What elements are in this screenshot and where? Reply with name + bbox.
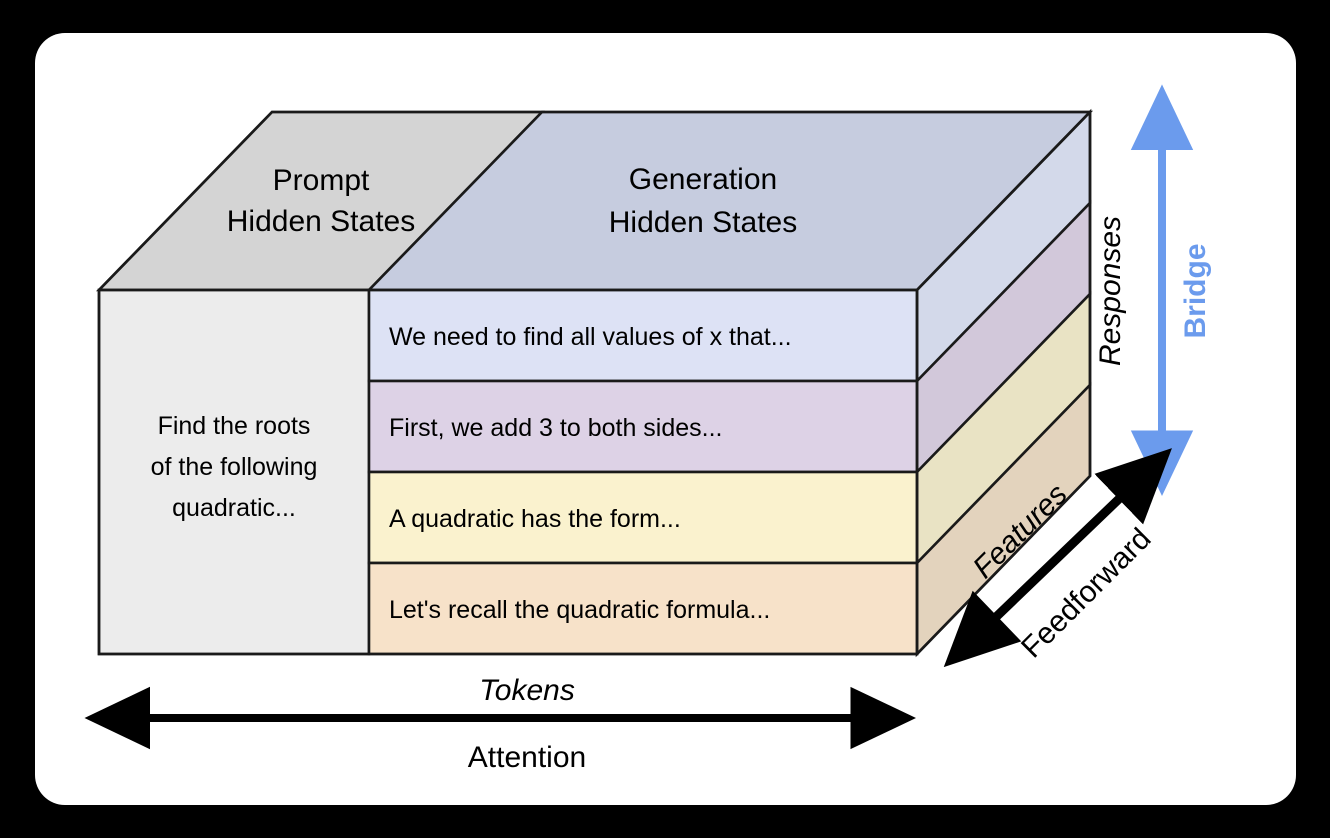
generation-row-label-1: We need to find all values of x that... bbox=[389, 323, 792, 351]
prompt-cell-line-1: Find the roots bbox=[158, 412, 311, 440]
prompt-top-face-line1: Prompt bbox=[273, 164, 370, 197]
prompt-cell-line-3: quadratic... bbox=[172, 494, 296, 522]
prompt-cell: Find the roots of the following quadrati… bbox=[99, 290, 369, 654]
generation-top-face-line2: Hidden States bbox=[609, 206, 797, 239]
architecture-diagram: Prompt Hidden States Generation Hidden S… bbox=[0, 0, 1330, 838]
prompt-top-face-line2: Hidden States bbox=[227, 205, 415, 238]
feedforward-axis-label: Feedforward bbox=[1015, 522, 1157, 664]
generation-row-label-3: A quadratic has the form... bbox=[389, 505, 681, 533]
tokens-axis-label: Tokens bbox=[479, 674, 575, 707]
generation-row-label-4: Let's recall the quadratic formula... bbox=[389, 596, 770, 624]
vertical-axis: Responses Bridge bbox=[1094, 118, 1212, 464]
generation-row-label-2: First, we add 3 to both sides... bbox=[389, 414, 723, 442]
horizontal-axis: Tokens Attention bbox=[118, 674, 884, 774]
generation-rows-group: We need to find all values of x that... … bbox=[369, 290, 917, 654]
generation-top-face-line1: Generation bbox=[629, 163, 777, 196]
responses-axis-label: Responses bbox=[1094, 216, 1127, 366]
attention-axis-label: Attention bbox=[468, 741, 586, 774]
screenshot-root: Prompt Hidden States Generation Hidden S… bbox=[0, 0, 1330, 838]
bridge-axis-label: Bridge bbox=[1179, 243, 1212, 338]
prompt-cell-line-2: of the following bbox=[151, 453, 318, 481]
